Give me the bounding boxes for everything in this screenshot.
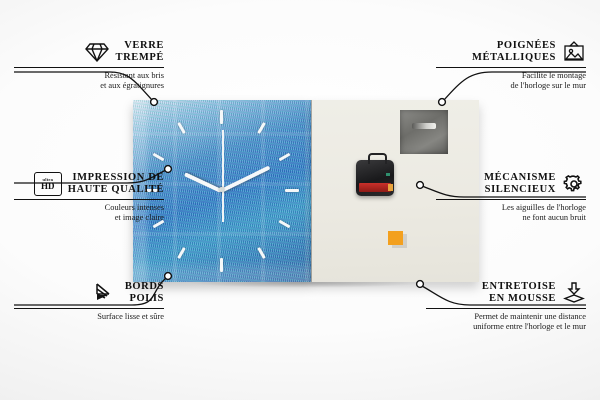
callout-header: ENTRETOISEEN MOUSSE xyxy=(426,281,586,305)
clock-tick xyxy=(257,247,266,259)
callout-header: BORDSPOLIS xyxy=(14,281,164,305)
infographic-canvas: VERRETREMPÉ Résistant aux briset aux égr… xyxy=(0,0,600,400)
polished-edges-icon xyxy=(95,282,119,304)
callout-mecanisme-silencieux[interactable]: MÉCANISMESILENCIEUX Les aiguilles de l'h… xyxy=(436,172,586,223)
battery-terminal xyxy=(388,184,393,191)
foam-spacer xyxy=(388,231,403,245)
movement-indicator xyxy=(386,173,390,176)
product-image xyxy=(133,100,478,282)
clock-tick xyxy=(220,110,223,124)
movement-hook xyxy=(368,153,387,164)
metal-hanger-plate xyxy=(400,110,448,154)
callout-title: POIGNÉESMÉTALLIQUES xyxy=(472,40,556,64)
callout-title: ENTRETOISEEN MOUSSE xyxy=(482,281,556,305)
divider xyxy=(426,308,586,309)
callout-header: ultra HD IMPRESSION DEHAUTE QUALITÉ xyxy=(14,172,164,196)
clock-tick xyxy=(279,153,291,162)
divider xyxy=(14,199,164,200)
clock-movement xyxy=(356,160,394,196)
callout-bords-polis[interactable]: BORDSPOLIS Surface lisse et sûre xyxy=(14,281,164,322)
divider xyxy=(436,67,586,68)
callout-title: MÉCANISMESILENCIEUX xyxy=(484,172,556,196)
clock-tick xyxy=(177,122,186,134)
callout-description: Résistant aux briset aux égratignures xyxy=(14,71,164,91)
clock-second-hand xyxy=(222,130,224,222)
callout-description: Surface lisse et sûre xyxy=(14,312,164,322)
gear-icon xyxy=(562,173,586,195)
clock-hub xyxy=(219,187,224,192)
divider xyxy=(14,67,164,68)
diamond-icon xyxy=(85,41,109,63)
clock-hour-hand xyxy=(184,172,222,193)
spacer-arrow-icon xyxy=(562,282,586,304)
ultra-hd-icon: ultra HD xyxy=(34,172,62,196)
picture-frame-icon xyxy=(562,41,586,63)
callout-description: Permet de maintenir une distanceuniforme… xyxy=(426,312,586,332)
callout-description: Les aiguilles de l'horlogene font aucun … xyxy=(436,203,586,223)
callout-header: POIGNÉESMÉTALLIQUES xyxy=(436,40,586,64)
divider xyxy=(14,308,164,309)
clock-tick xyxy=(220,258,223,272)
callout-header: VERRETREMPÉ xyxy=(14,40,164,64)
callout-title: IMPRESSION DEHAUTE QUALITÉ xyxy=(68,172,164,196)
callout-title: BORDSPOLIS xyxy=(125,281,164,305)
clock-minute-hand xyxy=(220,166,270,193)
callout-poignees-metalliques[interactable]: POIGNÉESMÉTALLIQUES Facilite le montaged… xyxy=(436,40,586,91)
clock-tick xyxy=(279,220,291,229)
battery xyxy=(359,183,391,192)
callout-title: VERRETREMPÉ xyxy=(115,40,164,64)
callout-description: Couleurs intenseset image claire xyxy=(14,203,164,223)
divider xyxy=(436,199,586,200)
hanger-slot xyxy=(412,123,436,129)
callout-impression-hd[interactable]: ultra HD IMPRESSION DEHAUTE QUALITÉ Coul… xyxy=(14,172,164,223)
callout-header: MÉCANISMESILENCIEUX xyxy=(436,172,586,196)
clock-tick xyxy=(177,247,186,259)
callout-entretoise-en-mousse[interactable]: ENTRETOISEEN MOUSSE Permet de maintenir … xyxy=(426,281,586,332)
clock-tick xyxy=(285,189,299,192)
callout-description: Facilite le montagede l'horloge sur le m… xyxy=(436,71,586,91)
clock-tick xyxy=(257,122,266,134)
callout-verre-trempe[interactable]: VERRETREMPÉ Résistant aux briset aux égr… xyxy=(14,40,164,91)
clock-tick xyxy=(153,153,165,162)
